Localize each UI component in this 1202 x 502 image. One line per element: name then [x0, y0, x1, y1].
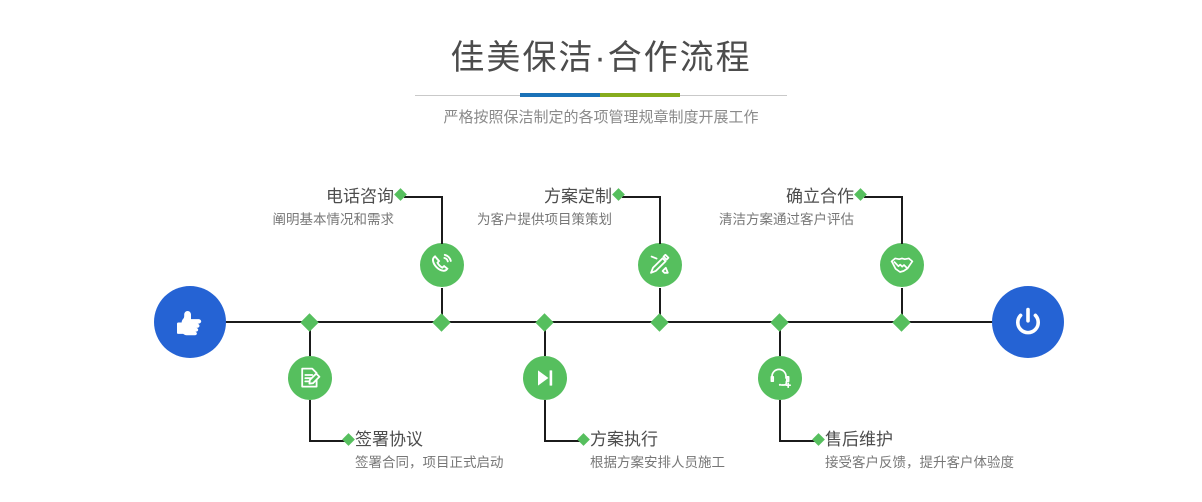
- connector-label-horizontal-sign-agreement: [309, 440, 347, 442]
- title-divider: [415, 93, 787, 97]
- step-node-establish-cooperation[interactable]: [880, 243, 924, 287]
- step-desc-plan-execution: 根据方案安排人员施工: [590, 452, 850, 474]
- play-next-icon: [532, 365, 558, 391]
- axis-marker-plan-customization: [650, 313, 668, 331]
- step-label-establish-cooperation: 确立合作 清洁方案通过客户评估: [612, 185, 854, 231]
- step-desc-phone-consultation: 阐明基本情况和需求: [150, 209, 394, 231]
- step-desc-after-sales-maintenance: 接受客户反馈，提升客户体验度: [825, 452, 1115, 474]
- page-title: 佳美保洁·合作流程: [0, 38, 1202, 78]
- phone-call-icon: [429, 252, 455, 278]
- axis-marker-plan-execution: [535, 313, 553, 331]
- step-title-establish-cooperation: 确立合作: [612, 185, 854, 209]
- pen-design-icon: [647, 252, 673, 278]
- step-label-plan-execution: 方案执行 根据方案安排人员施工: [590, 428, 850, 474]
- axis-marker-phone-consultation: [432, 313, 450, 331]
- label-marker-establish-cooperation: [854, 188, 867, 201]
- connector-label-horizontal-plan-execution: [544, 440, 582, 442]
- connector-label-horizontal-after-sales-maintenance: [779, 440, 817, 442]
- step-label-plan-customization: 方案定制 为客户提供项目策策划: [370, 185, 612, 231]
- divider-segment-blue: [520, 93, 600, 97]
- step-label-after-sales-maintenance: 售后维护 接受客户反馈，提升客户体验度: [825, 428, 1115, 474]
- axis-marker-after-sales-maintenance: [770, 313, 788, 331]
- step-title-plan-customization: 方案定制: [370, 185, 612, 209]
- step-title-after-sales-maintenance: 售后维护: [825, 428, 1115, 452]
- step-desc-sign-agreement: 签署合同，项目正式启动: [355, 452, 615, 474]
- step-desc-establish-cooperation: 清洁方案通过客户评估: [612, 209, 854, 231]
- page-subtitle: 严格按照保洁制定的各项管理规章制度开展工作: [0, 107, 1202, 129]
- timeline-end-node[interactable]: [992, 286, 1064, 358]
- connector-label-horizontal-establish-cooperation: [864, 196, 902, 198]
- pointing-hand-icon: [170, 302, 210, 342]
- step-title-phone-consultation: 电话咨询: [150, 185, 394, 209]
- label-marker-sign-agreement: [342, 433, 355, 446]
- connector-label-vertical-establish-cooperation: [901, 196, 903, 244]
- connector-label-vertical-sign-agreement: [309, 400, 311, 441]
- axis-marker-sign-agreement: [300, 313, 318, 331]
- divider-segment-green: [600, 93, 680, 97]
- headset-support-icon: [767, 365, 793, 391]
- step-node-phone-consultation[interactable]: [420, 243, 464, 287]
- step-label-sign-agreement: 签署协议 签署合同，项目正式启动: [355, 428, 615, 474]
- step-node-plan-customization[interactable]: [638, 243, 682, 287]
- timeline-start-node[interactable]: [154, 286, 226, 358]
- step-node-plan-execution[interactable]: [523, 356, 567, 400]
- step-label-phone-consultation: 电话咨询 阐明基本情况和需求: [150, 185, 394, 231]
- document-edit-icon: [297, 365, 323, 391]
- step-node-after-sales-maintenance[interactable]: [758, 356, 802, 400]
- connector-label-vertical-after-sales-maintenance: [779, 400, 781, 441]
- handshake-icon: [889, 252, 915, 278]
- connector-label-vertical-plan-execution: [544, 400, 546, 441]
- step-desc-plan-customization: 为客户提供项目策策划: [370, 209, 612, 231]
- flow-diagram: 佳美保洁·合作流程 严格按照保洁制定的各项管理规章制度开展工作: [0, 0, 1202, 502]
- axis-marker-establish-cooperation: [892, 313, 910, 331]
- step-node-sign-agreement[interactable]: [288, 356, 332, 400]
- power-icon: [1008, 302, 1048, 342]
